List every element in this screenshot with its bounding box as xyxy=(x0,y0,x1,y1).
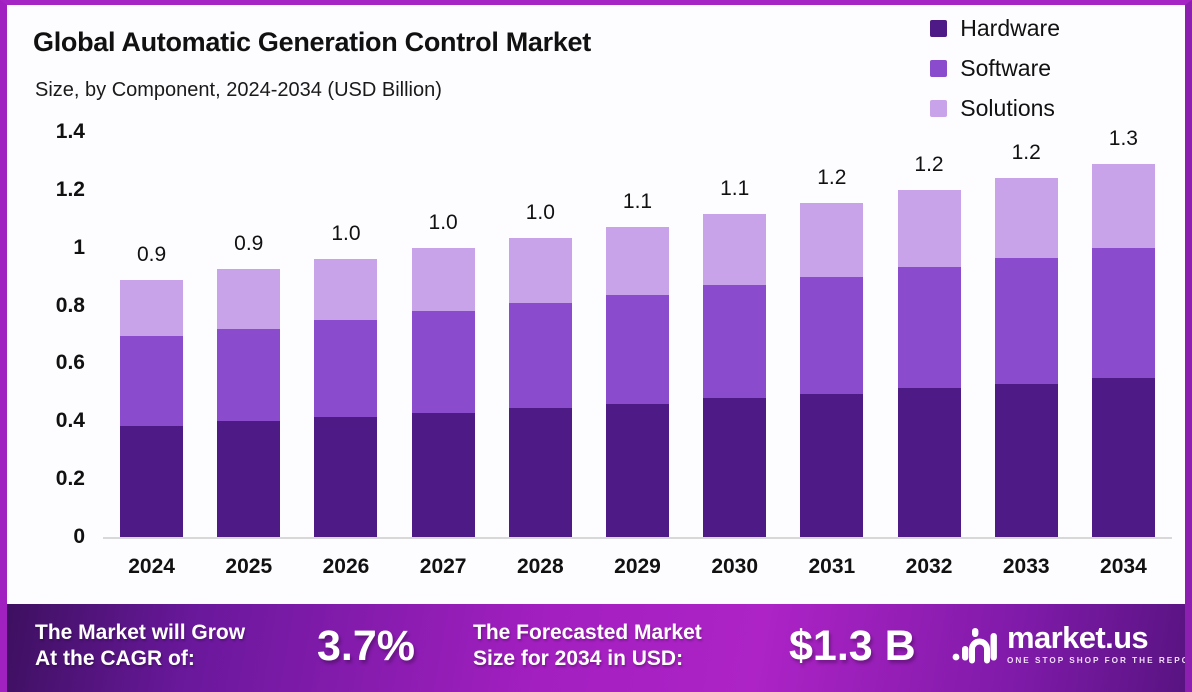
forecast-label-line1: The Forecasted Market xyxy=(473,620,702,646)
logo-tagline: ONE STOP SHOP FOR THE REPORTS xyxy=(1007,656,1192,665)
bar-segment-software[interactable] xyxy=(509,303,572,409)
y-axis-tick: 1.4 xyxy=(25,120,85,144)
bar-segment-solutions[interactable] xyxy=(412,248,475,312)
bar-value-label: 1.3 xyxy=(1092,127,1155,151)
x-axis-tick-2033: 2033 xyxy=(983,555,1070,579)
bar-group-2031[interactable] xyxy=(800,203,863,537)
bar-segment-software[interactable] xyxy=(314,320,377,417)
legend-swatch-icon xyxy=(930,100,947,117)
bar-group-2030[interactable] xyxy=(703,214,766,537)
legend-item-software[interactable]: Software xyxy=(930,55,1060,82)
chart-legend: HardwareSoftwareSolutions xyxy=(930,15,1060,122)
legend-item-label: Hardware xyxy=(960,15,1060,42)
page-subtitle: Size, by Component, 2024-2034 (USD Billi… xyxy=(35,79,442,102)
y-axis-tick: 1 xyxy=(25,236,85,260)
logo-text: market.us ONE STOP SHOP FOR THE REPORTS xyxy=(1007,622,1192,665)
bar-segment-hardware[interactable] xyxy=(898,388,961,537)
logo-wordmark: market.us xyxy=(1007,622,1192,653)
y-axis-tick: 0.4 xyxy=(25,409,85,433)
bar-segment-hardware[interactable] xyxy=(509,408,572,537)
bar-value-label: 0.9 xyxy=(120,243,183,267)
bar-value-label: 1.0 xyxy=(412,211,475,235)
cagr-label-line1: The Market will Grow xyxy=(35,620,245,646)
legend-item-label: Solutions xyxy=(960,95,1055,122)
bar-segment-solutions[interactable] xyxy=(606,227,669,295)
bar-segment-software[interactable] xyxy=(703,285,766,398)
bar-segment-hardware[interactable] xyxy=(995,384,1058,537)
page-title: Global Automatic Generation Control Mark… xyxy=(33,27,591,58)
bar-group-2032[interactable] xyxy=(898,190,961,537)
bar-segment-solutions[interactable] xyxy=(1092,164,1155,248)
bar-segment-software[interactable] xyxy=(1092,248,1155,378)
bar-value-label: 1.2 xyxy=(898,153,961,177)
bar-group-2024[interactable] xyxy=(120,280,183,537)
bar-segment-solutions[interactable] xyxy=(120,280,183,336)
bar-value-label: 1.0 xyxy=(509,201,572,225)
bar-segment-solutions[interactable] xyxy=(703,214,766,285)
bar-segment-solutions[interactable] xyxy=(509,238,572,303)
bar-segment-solutions[interactable] xyxy=(314,259,377,320)
legend-item-hardware[interactable]: Hardware xyxy=(930,15,1060,42)
bar-group-2028[interactable] xyxy=(509,238,572,537)
bar-value-label: 1.1 xyxy=(606,190,669,214)
market-us-logo[interactable]: market.us ONE STOP SHOP FOR THE REPORTS xyxy=(952,622,1192,665)
y-axis-tick: 0.6 xyxy=(25,351,85,375)
legend-swatch-icon xyxy=(930,60,947,77)
bar-segment-solutions[interactable] xyxy=(800,203,863,277)
legend-item-label: Software xyxy=(960,55,1051,82)
x-axis-tick-2034: 2034 xyxy=(1080,555,1167,579)
bar-chart-logo-icon xyxy=(952,624,998,664)
x-axis-tick-2029: 2029 xyxy=(594,555,681,579)
infographic-container: Global Automatic Generation Control Mark… xyxy=(0,0,1192,692)
bar-segment-software[interactable] xyxy=(898,267,961,389)
bar-segment-hardware[interactable] xyxy=(120,426,183,537)
forecast-value: $1.3 B xyxy=(789,622,916,671)
bar-segment-hardware[interactable] xyxy=(800,394,863,537)
bar-group-2034[interactable] xyxy=(1092,164,1155,537)
bar-segment-hardware[interactable] xyxy=(1092,378,1155,537)
bar-segment-solutions[interactable] xyxy=(217,269,280,328)
y-axis-tick: 0.8 xyxy=(25,294,85,318)
x-axis-tick-2024: 2024 xyxy=(108,555,195,579)
bar-value-label: 1.1 xyxy=(703,177,766,201)
bar-group-2027[interactable] xyxy=(412,248,475,537)
bar-segment-software[interactable] xyxy=(412,311,475,412)
legend-item-solutions[interactable]: Solutions xyxy=(930,95,1060,122)
bar-group-2033[interactable] xyxy=(995,178,1058,537)
x-axis-tick-2025: 2025 xyxy=(205,555,292,579)
y-axis-tick: 0.2 xyxy=(25,467,85,491)
y-axis-tick: 0 xyxy=(25,525,85,549)
x-axis-tick-2030: 2030 xyxy=(691,555,778,579)
x-axis-tick-2031: 2031 xyxy=(788,555,875,579)
cagr-label-line2: At the CAGR of: xyxy=(35,646,245,672)
y-axis-tick: 1.2 xyxy=(25,178,85,202)
forecast-label: The Forecasted MarketSize for 2034 in US… xyxy=(473,620,702,671)
bar-segment-software[interactable] xyxy=(995,258,1058,384)
footer-banner: The Market will GrowAt the CAGR of: 3.7%… xyxy=(7,604,1192,692)
bar-group-2026[interactable] xyxy=(314,259,377,537)
bar-value-label: 1.0 xyxy=(314,222,377,246)
bar-segment-hardware[interactable] xyxy=(606,404,669,537)
bar-segment-hardware[interactable] xyxy=(314,417,377,537)
bar-segment-software[interactable] xyxy=(606,295,669,403)
bar-value-label: 1.2 xyxy=(995,141,1058,165)
bar-value-label: 0.9 xyxy=(217,232,280,256)
x-axis-line xyxy=(103,537,1172,539)
forecast-label-line2: Size for 2034 in USD: xyxy=(473,646,702,672)
bar-group-2025[interactable] xyxy=(217,269,280,537)
bar-segment-software[interactable] xyxy=(120,336,183,426)
bar-segment-hardware[interactable] xyxy=(703,398,766,537)
cagr-label: The Market will GrowAt the CAGR of: xyxy=(35,620,245,671)
legend-swatch-icon xyxy=(930,20,947,37)
bar-segment-hardware[interactable] xyxy=(217,421,280,537)
x-axis-tick-2027: 2027 xyxy=(400,555,487,579)
bar-segment-hardware[interactable] xyxy=(412,413,475,537)
x-axis-tick-2032: 2032 xyxy=(886,555,973,579)
cagr-value: 3.7% xyxy=(317,622,415,671)
bar-segment-software[interactable] xyxy=(800,277,863,394)
bar-segment-software[interactable] xyxy=(217,329,280,422)
bar-value-label: 1.2 xyxy=(800,166,863,190)
bar-segment-solutions[interactable] xyxy=(898,190,961,267)
x-axis-tick-2028: 2028 xyxy=(497,555,584,579)
bar-group-2029[interactable] xyxy=(606,227,669,537)
bar-segment-solutions[interactable] xyxy=(995,178,1058,258)
x-axis-tick-2026: 2026 xyxy=(302,555,389,579)
